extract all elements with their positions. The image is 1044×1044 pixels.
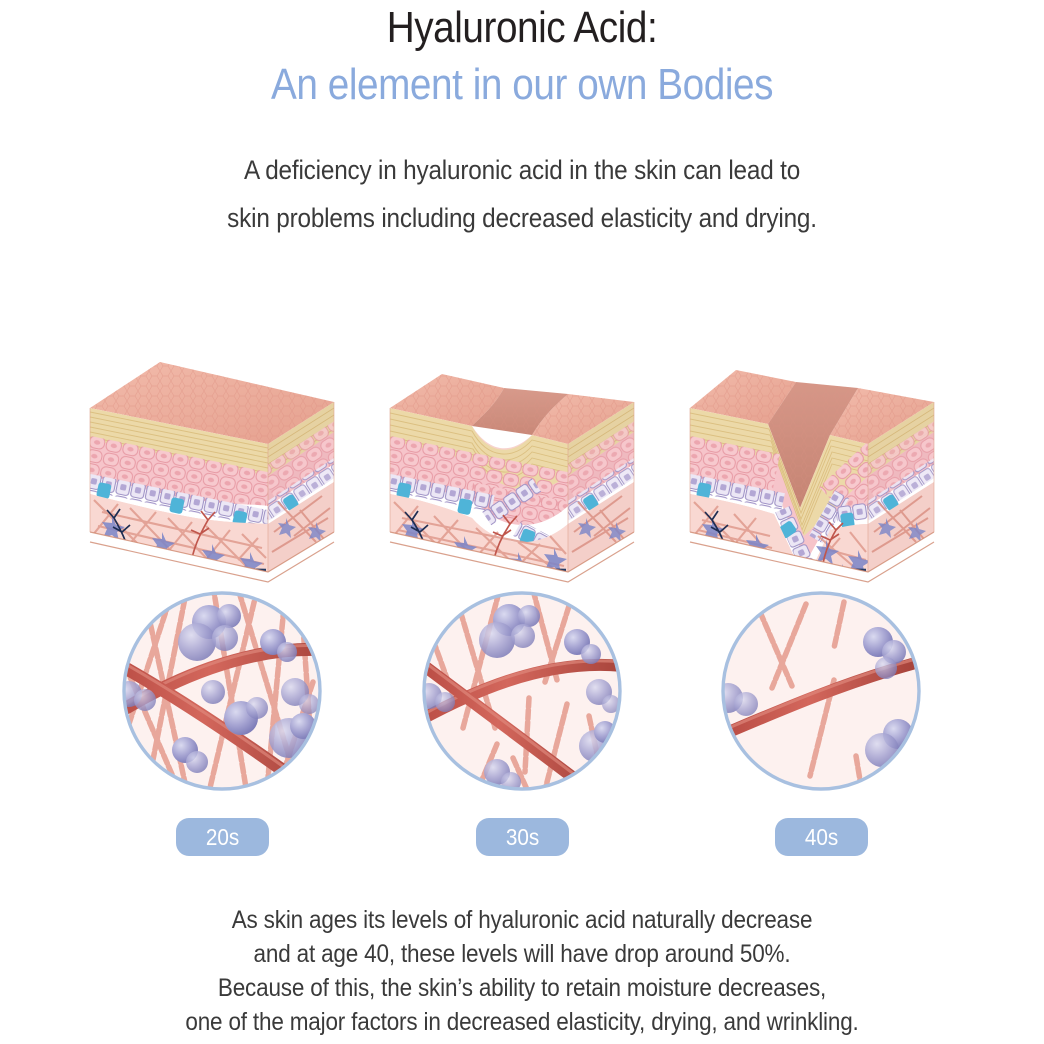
age-badge-row: 20s 30s 40s xyxy=(0,818,1044,858)
lede-paragraph: A deficiency in hyaluronic acid in the s… xyxy=(0,146,1044,242)
footer-line-1: As skin ages its levels of hyaluronic ac… xyxy=(52,903,992,937)
collagen-circle-row xyxy=(0,586,1044,801)
age-badge-30s-label: 30s xyxy=(506,818,539,856)
page-title: Hyaluronic Acid: An element in our own B… xyxy=(0,0,1044,110)
lede-line-1: A deficiency in hyaluronic acid in the s… xyxy=(52,146,992,194)
lede-line-2: skin problems including decreased elasti… xyxy=(52,194,992,242)
footer-line-2: and at age 40, these levels will have dr… xyxy=(52,937,992,971)
skin-block-row xyxy=(0,336,1044,586)
collagen-closeup-30s xyxy=(417,586,627,796)
footer-line-3: Because of this, the skin’s ability to r… xyxy=(52,971,992,1005)
title-line-secondary: An element in our own Bodies xyxy=(63,60,982,110)
skin-cross-section-40s xyxy=(672,336,972,586)
skin-cross-section-30s xyxy=(372,336,672,586)
title-line-primary: Hyaluronic Acid: xyxy=(63,3,982,53)
footer-line-4: one of the major factors in decreased el… xyxy=(52,1005,992,1039)
age-badge-20s-label: 20s xyxy=(206,818,239,856)
age-badge-20s[interactable]: 20s xyxy=(176,818,269,856)
collagen-closeup-20s xyxy=(117,586,327,796)
age-badge-40s[interactable]: 40s xyxy=(775,818,868,856)
skin-cross-section-20s xyxy=(72,336,372,586)
age-badge-30s[interactable]: 30s xyxy=(476,818,569,856)
footer-paragraph: As skin ages its levels of hyaluronic ac… xyxy=(0,903,1044,1039)
infographic-page: Hyaluronic Acid: An element in our own B… xyxy=(0,0,1044,1044)
age-badge-40s-label: 40s xyxy=(805,818,838,856)
collagen-closeup-40s xyxy=(716,586,926,796)
